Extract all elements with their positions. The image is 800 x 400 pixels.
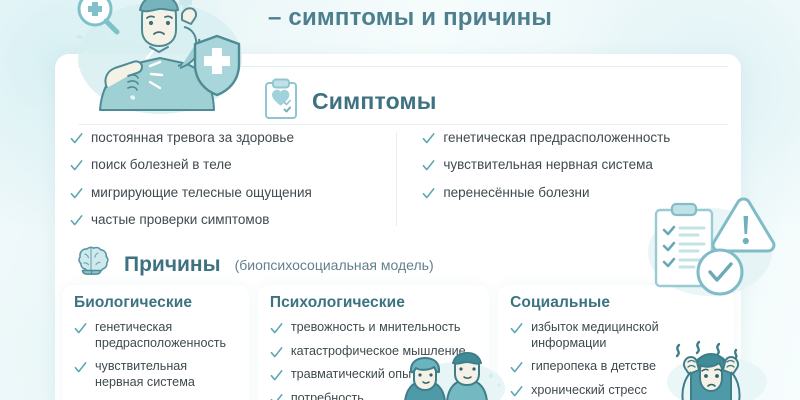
check-icon [270,393,283,400]
list-item: потребность [270,391,477,400]
page-title: – симптомы и причины [268,4,738,32]
causes-column-psychological: Психологические тревожность и мнительнос… [258,285,489,400]
column-title: Социальные [510,294,722,312]
column-title: Биологические [74,294,237,312]
causes-heading-label: Причины [124,253,221,277]
list-item: постоянная тревога за здоровье [70,130,384,146]
check-icon [422,187,435,200]
list-item: катастрофическое мышление [270,344,477,360]
list-item: генетическая предрасположенность [74,320,237,351]
list-item: гиперопека в детстве [510,359,722,375]
list-item: чувствительная нервная система [74,359,237,390]
check-icon [270,346,283,359]
list-item-label: генетическая предрасположенность [95,320,237,351]
symptoms-divider [78,124,728,125]
causes-columns: Биологические генетическая предрасположе… [62,285,734,400]
check-icon [74,322,87,335]
list-item: перенесённые болезни [422,185,730,201]
list-item-label: мигрирующие телесные ощущения [91,185,312,201]
list-item: мигрирующие телесные ощущения [70,185,384,201]
list-item-label: гиперопека в детстве [531,359,656,375]
list-item-label: частые проверки симптомов [91,212,269,228]
list-item-label: перенесённые болезни [443,185,589,201]
check-icon [510,361,523,374]
check-icon [70,187,83,200]
list-item: поиск болезней в теле [70,157,384,173]
magnifier-medical-cross-icon [79,0,117,32]
check-icon [74,361,87,374]
list-item: тревожность и мнительность [270,320,477,336]
check-icon [70,132,83,145]
list-item-label: генетическая предрасположенность [443,130,670,146]
brain-icon [70,245,114,284]
symptoms-lists: постоянная тревога за здоровье поиск бол… [70,130,730,240]
header-divider [78,66,728,67]
list-item-label: поиск болезней в теле [91,157,232,173]
list-item-label: постоянная тревога за здоровье [91,130,294,146]
symptoms-left-column: постоянная тревога за здоровье поиск бол… [70,130,394,240]
list-item: чувствительная нервная система [422,157,730,173]
list-item-label: тревожность и мнительность [291,320,461,336]
check-icon [270,322,283,335]
check-icon [422,132,435,145]
causes-column-social: Социальные избыток медицинской информаци… [498,285,734,400]
causes-column-biological: Биологические генетическая предрасположе… [62,285,249,400]
list-item-label: чувствительная нервная система [95,359,237,390]
list-item: избыток медицинской информации [510,320,722,351]
check-icon [70,214,83,227]
check-icon [70,159,83,172]
list-item-label: катастрофическое мышление [291,344,466,360]
list-item: хронический стресс [510,383,722,399]
check-icon [510,322,523,335]
list-item: частые проверки симптомов [70,212,384,228]
symptoms-right-column: генетическая предрасположенность чувстви… [394,130,730,240]
list-item: генетическая предрасположенность [422,130,730,146]
causes-heading: Причины (биопсихосоциальная модель) [70,245,434,284]
causes-heading-subtitle: (биопсихосоциальная модель) [235,257,434,273]
column-title: Психологические [270,294,477,312]
list-item-label: травматический опыт [291,367,417,383]
list-item-label: избыток медицинской информации [531,320,722,351]
symptoms-heading: Симптомы [262,78,437,125]
check-icon [270,369,283,382]
infographic-canvas: – симптомы и причины Симптомы постоянная… [0,0,800,400]
check-icon [510,385,523,398]
clipboard-heart-icon [262,78,300,125]
check-icon [422,159,435,172]
list-item-label: потребность [291,391,364,400]
list-item-label: чувствительная нервная система [443,157,653,173]
symptoms-heading-label: Симптомы [312,88,437,115]
list-item-label: хронический стресс [531,383,647,399]
list-item: травматический опыт [270,367,477,383]
